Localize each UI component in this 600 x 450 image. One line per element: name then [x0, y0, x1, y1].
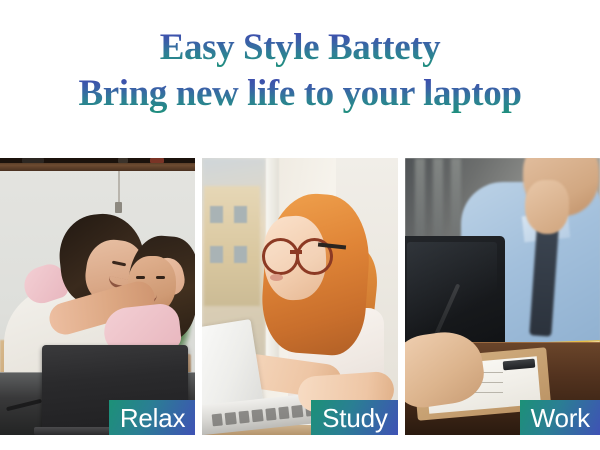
- headline-line-1: Easy Style Battety: [0, 28, 600, 67]
- panel-badge-work: Work: [520, 400, 600, 435]
- building-window: [234, 246, 247, 263]
- keyboard-key: [239, 411, 251, 424]
- product-banner: Easy Style Battety Bring new life to you…: [0, 0, 600, 450]
- keyboard-key: [212, 413, 224, 426]
- photo-relax: [0, 158, 195, 435]
- headline-block: Easy Style Battety Bring new life to you…: [0, 28, 600, 113]
- panel-badge-study: Study: [311, 400, 398, 435]
- building-window: [234, 206, 247, 223]
- panel-badge-relax: Relax: [109, 400, 195, 435]
- lifestyle-panel-study: Study: [202, 158, 397, 435]
- lifestyle-panel-row: Relax: [0, 158, 600, 435]
- cord-plug: [115, 202, 122, 213]
- child-eye: [156, 276, 165, 279]
- keyboard-key: [278, 406, 290, 419]
- keyboard-key: [265, 408, 277, 421]
- shelf-object: [22, 158, 44, 163]
- shelf-object: [118, 158, 128, 163]
- building-window: [210, 206, 223, 223]
- headline-line-2: Bring new life to your laptop: [0, 74, 600, 113]
- colleague-hand: [525, 180, 569, 234]
- lifestyle-panel-relax: Relax: [0, 158, 195, 435]
- photo-work: [405, 158, 600, 435]
- shelf-object: [150, 158, 164, 163]
- keyboard-key: [252, 409, 264, 422]
- photo-study: [202, 158, 397, 435]
- keyboard-key: [225, 412, 237, 425]
- lifestyle-panel-work: Work: [405, 158, 600, 435]
- child-eye: [136, 276, 145, 279]
- keyboard-key: [292, 405, 304, 418]
- building-window: [210, 246, 223, 263]
- eyeglasses-bridge: [290, 250, 302, 254]
